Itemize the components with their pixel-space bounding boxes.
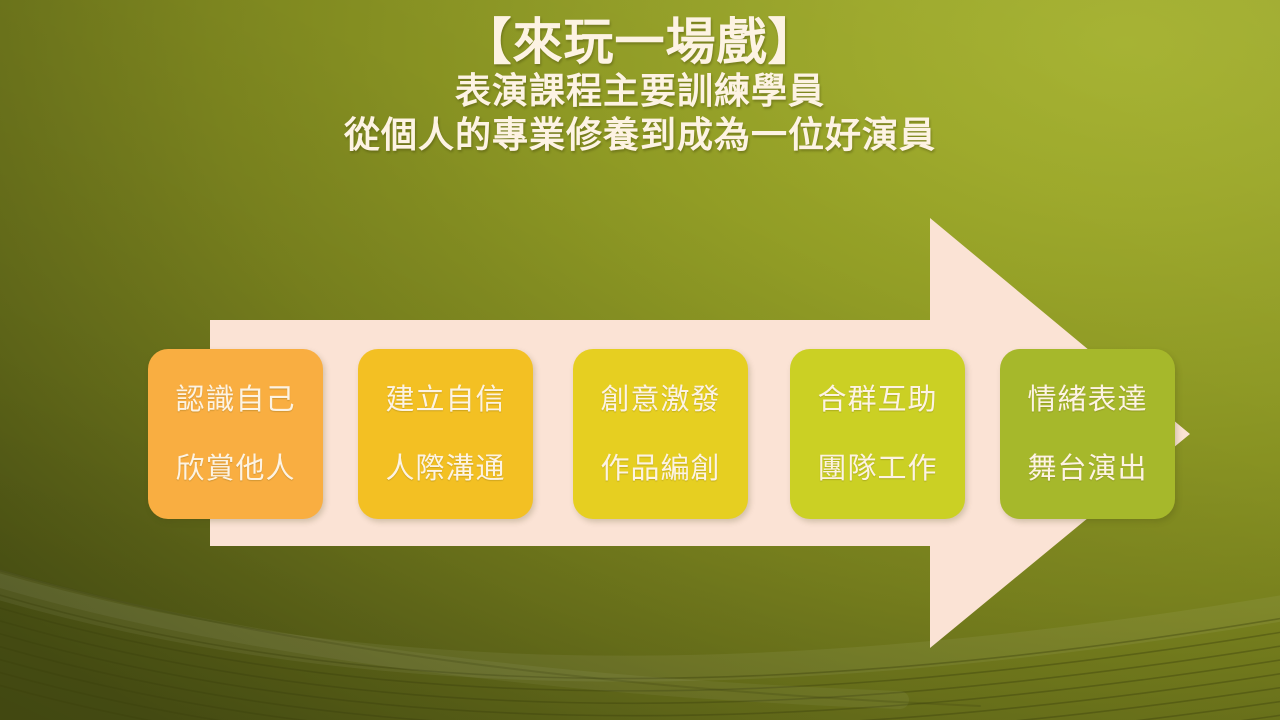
process-step-1[interactable]: 認識自己 欣賞他人 [148,349,323,519]
process-step-5-line-1: 情緒表達 [1027,385,1147,414]
process-step-2-line-2: 人際溝通 [385,454,505,483]
process-step-4-line-1: 合群互助 [817,385,937,414]
subtitle-line-1: 表演課程主要訓練學員 [0,70,1280,114]
process-step-2-line-1: 建立自信 [385,385,505,414]
process-step-5[interactable]: 情緒表達 舞台演出 [1000,349,1175,519]
title-block: 【來玩一場戲】 表演課程主要訓練學員 從個人的專業修養到成為一位好演員 [0,14,1280,158]
subtitle-line-2: 從個人的專業修養到成為一位好演員 [0,114,1280,158]
process-step-4[interactable]: 合群互助 團隊工作 [790,349,965,519]
process-step-5-line-2: 舞台演出 [1027,454,1147,483]
process-step-3-line-2: 作品編創 [600,454,720,483]
process-step-3[interactable]: 創意激發 作品編創 [573,349,748,519]
page-title: 【來玩一場戲】 [0,14,1280,70]
slide-canvas: 【來玩一場戲】 表演課程主要訓練學員 從個人的專業修養到成為一位好演員 認識自己… [0,0,1280,720]
process-step-2[interactable]: 建立自信 人際溝通 [358,349,533,519]
process-step-4-line-2: 團隊工作 [817,454,937,483]
process-step-1-line-1: 認識自己 [175,385,295,414]
process-step-1-line-2: 欣賞他人 [175,454,295,483]
process-step-3-line-1: 創意激發 [600,385,720,414]
